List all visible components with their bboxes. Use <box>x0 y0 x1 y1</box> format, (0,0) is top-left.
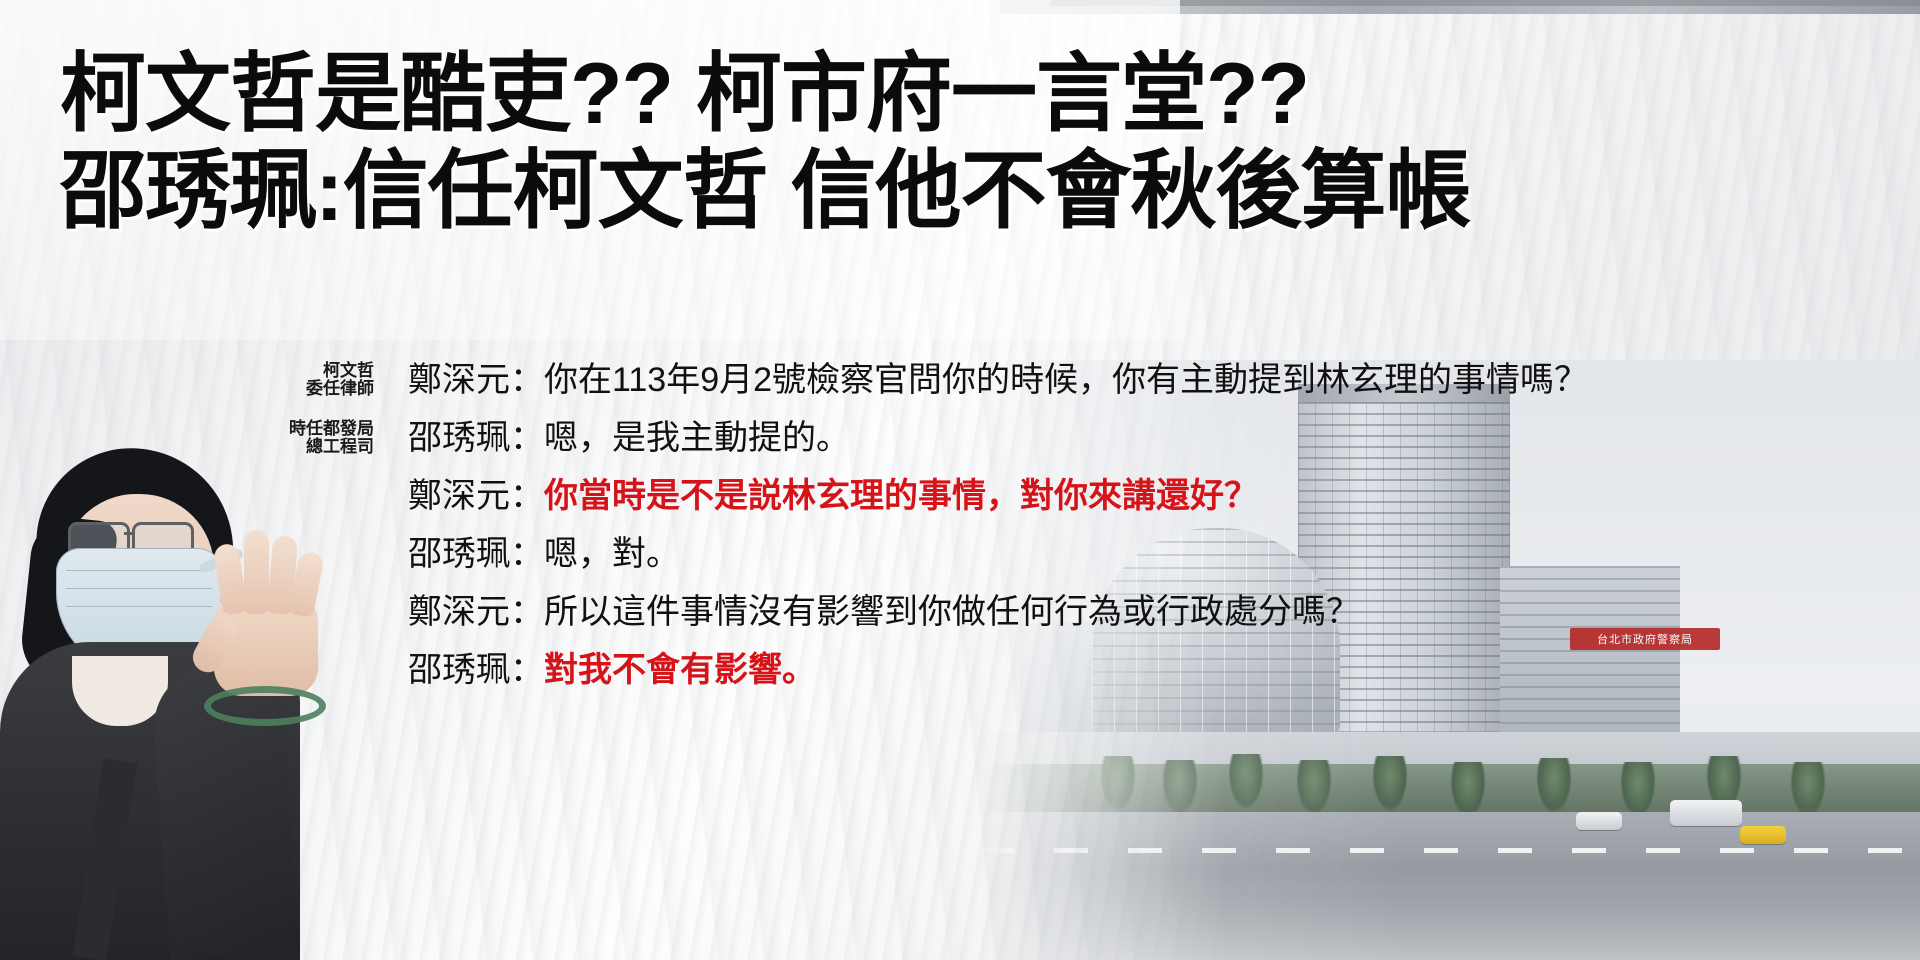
speaker-colon: ： <box>510 410 544 460</box>
photo-tree <box>1790 762 1826 818</box>
speaker-colon: ： <box>510 468 544 518</box>
speaker-name: 鄭深元 <box>382 468 510 518</box>
speaker-colon: ： <box>510 352 544 402</box>
role-tag-line-2: 總工程司 <box>262 438 374 456</box>
utterance-text: 你在113年9月2號檢察官問你的時候，你有主動提到林玄理的事情嗎？ <box>544 352 1588 402</box>
photo-tree <box>1228 754 1264 810</box>
photo-car <box>1576 812 1622 830</box>
photo-tree <box>1620 762 1656 818</box>
role-tag <box>262 572 382 576</box>
transcript-row: 邵琇珮 ： 嗯，對。 <box>262 530 1902 576</box>
utterance-text-highlighted: 對我不會有影響。 <box>544 642 816 692</box>
poster-canvas: 台北市政府警察局 柯文哲是酷吏?? 柯市府一言堂?? 邵琇珮:信任柯文哲 信他不… <box>0 0 1920 960</box>
role-tag <box>262 688 382 692</box>
photo-tree <box>1100 756 1136 812</box>
transcript-row: 時任都發局 總工程司 邵琇珮 ： 嗯，是我主動提的。 <box>262 414 1902 460</box>
role-tag-line-1: 時任都發局 <box>262 420 374 438</box>
photo-tree <box>1450 762 1486 818</box>
utterance-text: 嗯，對。 <box>544 526 680 576</box>
transcript-row: 鄭深元 ： 所以這件事情沒有影響到你做任何行為或行政處分嗎？ <box>262 588 1902 634</box>
photo-taxi <box>1740 826 1786 844</box>
speaker-colon: ： <box>510 584 544 634</box>
eyeglasses-bridge <box>124 532 134 535</box>
role-tag: 時任都發局 總工程司 <box>262 420 382 460</box>
speaker-colon: ： <box>510 526 544 576</box>
speaker-name: 邵琇珮 <box>382 410 510 460</box>
headline-line-1: 柯文哲是酷吏?? 柯市府一言堂?? <box>60 48 1860 141</box>
speaker-name: 鄭深元 <box>382 352 510 402</box>
speaker-name: 鄭深元 <box>382 584 510 634</box>
role-tag <box>262 514 382 518</box>
transcript-block: 柯文哲 委任律師 鄭深元 ： 你在113年9月2號檢察官問你的時候，你有主動提到… <box>262 356 1902 704</box>
role-tag-line-2: 委任律師 <box>262 380 374 398</box>
role-tag <box>262 630 382 634</box>
photo-tree <box>1372 756 1408 812</box>
photo-tree <box>1296 760 1332 816</box>
transcript-row: 柯文哲 委任律師 鄭深元 ： 你在113年9月2號檢察官問你的時候，你有主動提到… <box>262 356 1902 402</box>
speaker-name: 邵琇珮 <box>382 642 510 692</box>
role-tag: 柯文哲 委任律師 <box>262 362 382 402</box>
headline-block: 柯文哲是酷吏?? 柯市府一言堂?? 邵琇珮:信任柯文哲 信他不會秋後算帳 <box>60 48 1860 238</box>
utterance-text: 嗯，是我主動提的。 <box>544 410 850 460</box>
headline-line-2: 邵琇珮:信任柯文哲 信他不會秋後算帳 <box>60 145 1860 238</box>
top-metal-strip-shadow <box>1050 0 1920 6</box>
transcript-row: 邵琇珮 ： 對我不會有影響。 <box>262 646 1902 692</box>
photo-tree <box>1162 760 1198 816</box>
role-tag-line-1: 柯文哲 <box>262 362 374 380</box>
photo-tree <box>1536 758 1572 814</box>
photo-bus <box>1670 800 1742 826</box>
speaker-name: 邵琇珮 <box>382 526 510 576</box>
speaker-colon: ： <box>510 642 544 692</box>
transcript-row: 鄭深元 ： 你當時是不是説林玄理的事情，對你來講還好？ <box>262 472 1902 518</box>
utterance-text-highlighted: 你當時是不是説林玄理的事情，對你來講還好？ <box>544 468 1258 518</box>
utterance-text: 所以這件事情沒有影響到你做任何行為或行政處分嗎？ <box>544 584 1360 634</box>
photo-bottom-fade <box>980 870 1920 960</box>
